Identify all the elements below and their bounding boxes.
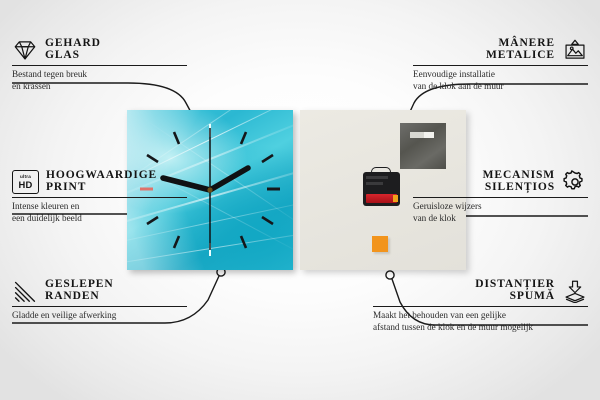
feature-title-line2: SPUMĂ: [510, 291, 555, 303]
infographic-canvas: GEHARD GLAS Bestand tegen breuk en krass…: [0, 0, 600, 400]
connector-endpoint: [386, 271, 394, 279]
divider: [413, 65, 588, 66]
feature-subtitle-line1: Eenvoudige installatie: [413, 69, 588, 81]
feature-subtitle-line1: Gladde en veilige afwerking: [12, 310, 187, 322]
diamond-icon: [12, 38, 38, 62]
metal-hanger-plate: [400, 123, 446, 169]
divider: [12, 306, 187, 307]
feature-title-line2: PRINT: [46, 182, 157, 194]
gear-icon: [562, 170, 588, 194]
feature-subtitle-line1: Maakt het behouden van een gelijke: [373, 310, 588, 322]
divider: [373, 306, 588, 307]
mechanism-detail: [366, 182, 383, 185]
picture-frame-hanger-icon: [562, 38, 588, 62]
mechanism-loop: [371, 167, 391, 175]
orange-foam-spacer: [372, 236, 388, 252]
feature-subtitle-line2: afstand tussen de klok en de muur mogeli…: [373, 322, 588, 334]
foam-spacer-icon: [562, 279, 588, 303]
feature-subtitle-line1: Geruisloze wijzers: [413, 201, 588, 213]
beveled-edges-icon: [12, 279, 38, 303]
ultra-hd-icon-main-text: HD: [19, 180, 33, 189]
ultra-hd-icon: ultra HD: [12, 170, 39, 194]
divider: [413, 197, 588, 198]
feature-subtitle-line2: een duidelijk beeld: [12, 213, 187, 225]
feature-subtitle-line1: Bestand tegen breuk: [12, 69, 187, 81]
feature-hoogwaardige-print: ultra HD HOOGWAARDIGE PRINT Intense kleu…: [12, 170, 187, 225]
feature-subtitle-line2: van de klok aan de muur: [413, 81, 588, 93]
feature-manere-metalice: MÂNERE METALICE Eenvoudige installatie v…: [413, 38, 588, 93]
feature-subtitle-line2: en krassen: [12, 81, 187, 93]
feature-title-line2: GLAS: [45, 50, 101, 62]
feature-geslepen-randen: GESLEPEN RANDEN Gladde en veilige afwerk…: [12, 279, 187, 322]
feature-mecanism-silentios: MECANISM SILENȚIOS Geruisloze wijzers va…: [413, 170, 588, 225]
quartz-mechanism-box: [363, 172, 400, 206]
feature-subtitle-line1: Intense kleuren en: [12, 201, 187, 213]
feature-gehard-glas: GEHARD GLAS Bestand tegen breuk en krass…: [12, 38, 187, 93]
feature-distantier-spuma: DISTANȚIER SPUMĂ Maakt het behouden van …: [373, 279, 588, 334]
hanger-slot: [410, 132, 434, 138]
divider: [12, 197, 187, 198]
divider: [12, 65, 187, 66]
battery: [366, 194, 397, 203]
feature-title-line2: SILENȚIOS: [485, 182, 555, 194]
feature-title-line2: METALICE: [486, 50, 555, 62]
feature-subtitle-line2: van de klok: [413, 213, 588, 225]
feature-title-line2: RANDEN: [45, 291, 114, 303]
mechanism-detail: [366, 176, 388, 179]
